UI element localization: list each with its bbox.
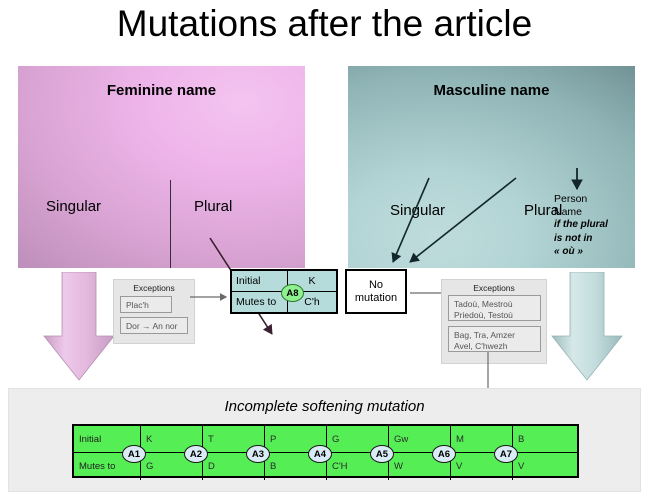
feminine-name-panel: Feminine name Singular Plural: [18, 66, 305, 268]
no-mutation-text: No mutation: [355, 279, 397, 305]
mutation-mini-mutes-label: Mutes to: [232, 292, 288, 313]
masculine-plural-arrow-icon: [410, 178, 516, 262]
exception-item-bag[interactable]: Bag, Tra, Amzer Avel, C'hwezh: [448, 326, 541, 352]
badge-a8[interactable]: A8: [281, 284, 304, 302]
exception-bag-line1: Bag, Tra, Amzer: [454, 330, 515, 340]
exceptions-right-title: Exceptions: [442, 283, 546, 293]
masculine-name-panel: Masculine name Singular Plural Person Na…: [348, 66, 635, 268]
badge-a7[interactable]: A7: [494, 445, 518, 463]
exception-item-plach[interactable]: Plac'h: [120, 296, 172, 313]
exception-item-tadou[interactable]: Tadoù, Mestroù Priedoù, Testoù: [448, 295, 541, 321]
feminine-plural-arrow-icon: [18, 66, 305, 268]
connector-exceptions-to-no-mutation: [406, 286, 446, 302]
badge-a3[interactable]: A3: [246, 445, 270, 463]
mutation-table: Initial K T P G Gw M B Mutes to G D B C'…: [72, 424, 579, 478]
mutation-table-mutes-a7: V: [513, 453, 575, 480]
result-title: Incomplete softening mutation: [9, 398, 640, 415]
page-title: Mutations after the article: [0, 2, 649, 46]
badge-a1[interactable]: A1: [122, 445, 146, 463]
exceptions-left-title: Exceptions: [114, 283, 194, 293]
no-mutation-line1: No: [369, 279, 383, 291]
badge-a5[interactable]: A5: [370, 445, 394, 463]
slide-canvas: Mutations after the article Feminine nam…: [0, 0, 649, 500]
no-mutation-line2: mutation: [355, 292, 397, 304]
masculine-singular-arrow-icon: [393, 178, 429, 262]
badge-a6[interactable]: A6: [432, 445, 456, 463]
mutation-mini-initial-label: Initial: [232, 271, 288, 291]
result-panel: Incomplete softening mutation Initial K …: [8, 388, 641, 492]
mutation-mini-table: Initial K Mutes to C'h A8: [230, 269, 338, 314]
exceptions-left-group: Exceptions Plac'h Dor → An nor: [113, 279, 195, 344]
exception-item-dor[interactable]: Dor → An nor: [120, 317, 188, 334]
big-arrow-down-right-icon: [548, 272, 626, 382]
exception-tadou-line1: Tadoù, Mestroù: [454, 299, 513, 309]
big-arrow-down-left-icon: [40, 272, 118, 382]
badge-a4[interactable]: A4: [308, 445, 332, 463]
no-mutation-box: No mutation: [345, 269, 407, 314]
exception-tadou-line2: Priedoù, Testoù: [454, 310, 513, 320]
exception-bag-line2: Avel, C'hwezh: [454, 341, 507, 351]
badge-a2[interactable]: A2: [184, 445, 208, 463]
mutation-table-initial-a7: B: [513, 426, 575, 452]
masculine-arrows-icon: [348, 66, 635, 268]
connector-plach-to-mutation: [190, 288, 234, 308]
